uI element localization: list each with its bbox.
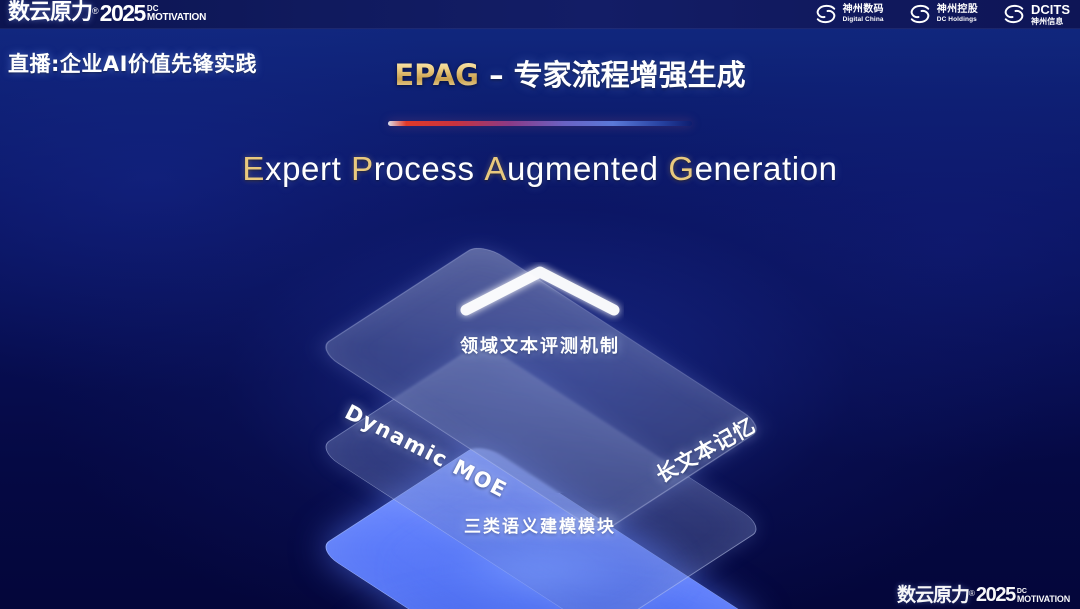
slide-canvas: 数云原力 ® 2025 DC MOTIVATION 直播:企业AI价值先锋实践 … <box>0 0 1080 609</box>
watermark-dc-motivation: DC MOTIVATION <box>1017 588 1070 604</box>
subtitle-rest-expert: xpert <box>265 150 341 187</box>
watermark-logo: 数云原力 ® 2025 DC MOTIVATION <box>897 586 1070 605</box>
slide-title: EPAG – 专家流程增强生成 <box>0 52 1080 94</box>
subtitle-rest-process: rocess <box>374 150 475 187</box>
swirl-icon <box>814 2 838 26</box>
brand-name-cn: 数云原力 <box>8 2 92 24</box>
partner-name-en: DC Holdings <box>937 17 978 24</box>
brand-dc-motivation: DC MOTIVATION <box>147 5 206 23</box>
layer-label-bottom: 三类语义建模模块 <box>90 512 990 537</box>
brand-registered-mark: ® <box>92 4 99 18</box>
slide-title-dash: – <box>479 58 514 92</box>
gradient-divider <box>388 121 692 126</box>
partner-name-cn: 神州数码 <box>843 5 884 15</box>
chevron-up-icon <box>456 262 624 322</box>
partner-text: DCITS 神州信息 <box>1031 3 1070 26</box>
subtitle-rest-augmented: ugmented <box>507 150 659 187</box>
partner-logo-dcits: DCITS 神州信息 <box>1002 2 1070 26</box>
swirl-icon <box>1002 2 1026 26</box>
partner-name-en: Digital China <box>843 17 884 24</box>
partner-text: 神州数码 Digital China <box>843 5 884 24</box>
subtitle-cap-a: A <box>484 150 507 187</box>
brand-motivation: MOTIVATION <box>147 13 206 23</box>
slide-title-cn: 专家流程增强生成 <box>514 58 746 92</box>
subtitle-cap-p: P <box>351 150 374 187</box>
swirl-icon <box>908 2 932 26</box>
subtitle-cap-e: E <box>242 150 265 187</box>
subtitle-cap-g: G <box>668 150 694 187</box>
watermark-year: 2025 <box>976 586 1015 605</box>
partner-logo-dc-holdings: 神州控股 DC Holdings <box>908 2 978 26</box>
watermark-registered-mark: ® <box>969 588 975 600</box>
watermark-motivation: MOTIVATION <box>1017 595 1070 604</box>
watermark-name-cn: 数云原力 <box>897 586 969 605</box>
slide-title-acronym: EPAG <box>394 58 479 92</box>
subtitle-rest-generation: eneration <box>695 150 838 187</box>
partner-logos: 神州数码 Digital China 神州控股 DC Holdings <box>814 2 1070 26</box>
layer-label-top: 领域文本评测机制 <box>90 332 990 358</box>
isometric-layer-stack: 领域文本评测机制 Dynamic MOE 长文本记忆 三类语义建模模块 <box>90 210 990 609</box>
slide-subtitle: Expert Process Augmented Generation <box>0 150 1080 188</box>
partner-name-en: DCITS <box>1031 3 1070 16</box>
brand-year: 2025 <box>100 2 145 24</box>
partner-name-cn: 神州控股 <box>937 5 978 15</box>
brand-logo: 数云原力 ® 2025 DC MOTIVATION <box>8 2 206 24</box>
partner-logo-digital-china: 神州数码 Digital China <box>814 2 884 26</box>
partner-text: 神州控股 DC Holdings <box>937 5 978 24</box>
partner-name-cn: 神州信息 <box>1031 18 1070 26</box>
